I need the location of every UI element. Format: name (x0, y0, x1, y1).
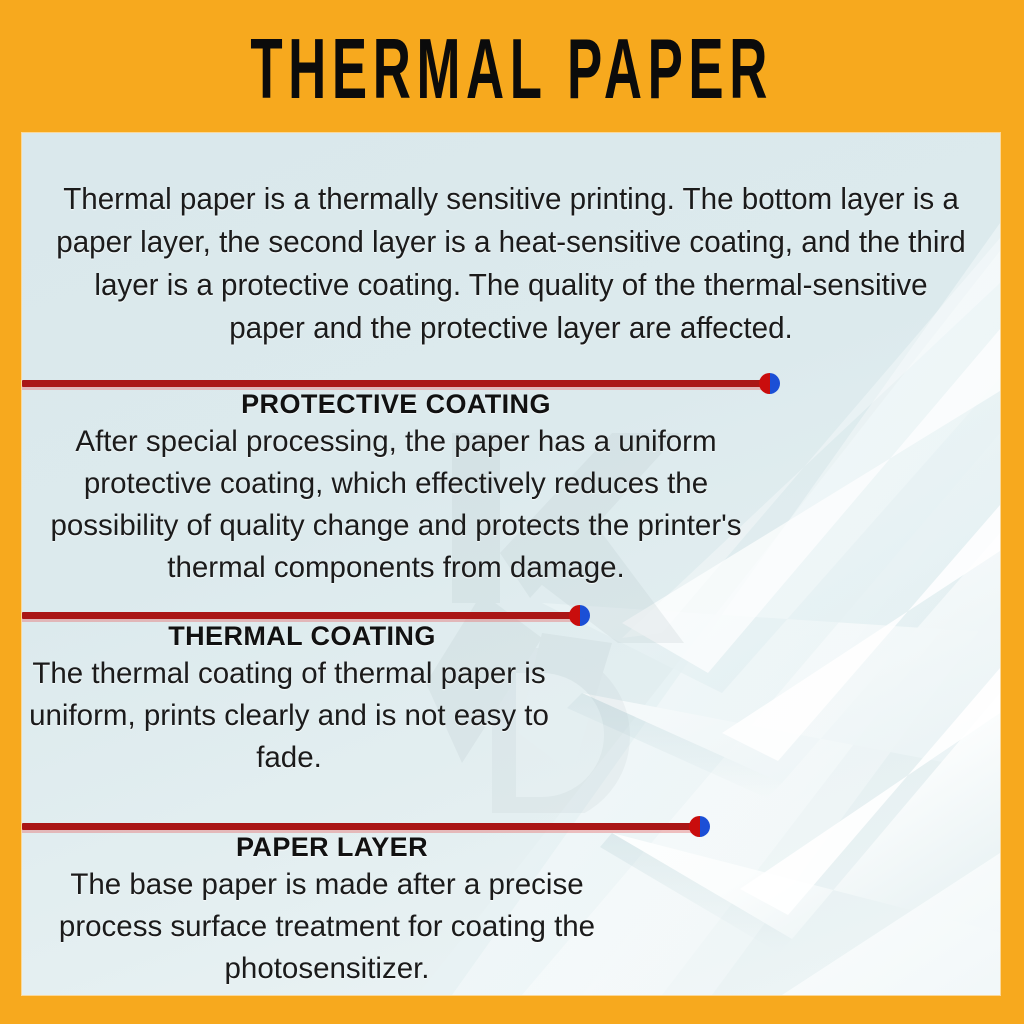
section-heading-thermal-coating: THERMAL COATING (22, 621, 582, 651)
section-body-thermal-coating: The thermal coating of thermal paper is … (22, 653, 556, 779)
section-heading-paper-layer: PAPER LAYER (22, 832, 642, 862)
content-panel: Thermal paper is a thermally sensitive p… (22, 133, 1000, 995)
rule-bar (22, 612, 580, 619)
divider-rule-thermal-coating (22, 612, 580, 619)
intro-paragraph: Thermal paper is a thermally sensitive p… (54, 178, 968, 350)
section-body-paper-layer: The base paper is made after a precise p… (22, 864, 632, 990)
section-body-protective-coating: After special processing, the paper has … (22, 421, 770, 589)
title-bar: THERMAL PAPER (0, 0, 1024, 133)
rule-bar (22, 823, 700, 830)
rule-end-dot-icon (689, 816, 710, 837)
page-title: THERMAL PAPER (251, 25, 774, 111)
divider-rule-protective-coating (22, 380, 770, 387)
divider-rule-paper-layer (22, 823, 700, 830)
section-heading-protective-coating: PROTECTIVE COATING (22, 389, 770, 419)
panel-content: Thermal paper is a thermally sensitive p… (22, 133, 1000, 995)
rule-bar (22, 380, 770, 387)
infographic-poster: THERMAL PAPER (0, 0, 1024, 1024)
